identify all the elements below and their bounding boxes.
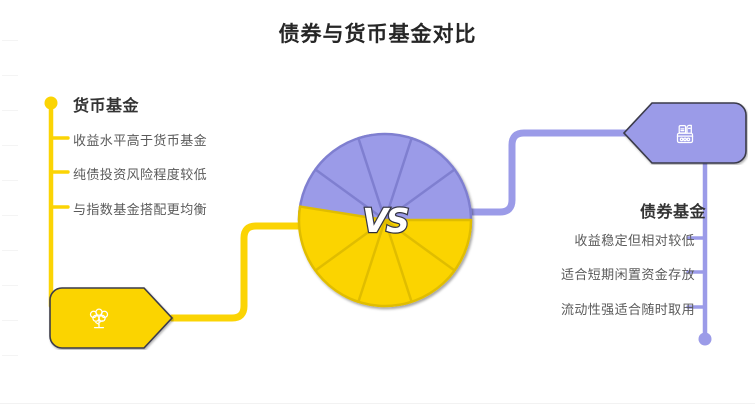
left-item-2: 纯债投资风险程度较低 (73, 164, 207, 183)
left-spine-dot (45, 97, 58, 110)
left-heading: 货币基金 (73, 92, 139, 116)
flower-petals (289, 124, 481, 316)
left-item-3: 与指数基金搭配更均衡 (73, 199, 207, 218)
left-item-1: 收益水平高于货币基金 (73, 130, 207, 149)
slide-canvas: 债券与货币基金对比 (0, 0, 755, 404)
page-title: 债券与货币基金对比 (0, 18, 755, 48)
right-item-1: 收益稳定但相对较低 (574, 230, 695, 249)
right-badge-shape (620, 101, 748, 165)
right-spine-dot (699, 333, 712, 346)
left-badge-shape (48, 286, 174, 350)
right-badge[interactable] (620, 101, 748, 165)
right-item-2: 适合短期闲置资金存放 (561, 264, 695, 283)
right-heading: 债券基金 (640, 198, 706, 222)
right-item-3: 流动性强适合随时取用 (561, 299, 695, 318)
vs-flower-graphic (289, 124, 481, 316)
left-badge[interactable] (48, 286, 174, 350)
